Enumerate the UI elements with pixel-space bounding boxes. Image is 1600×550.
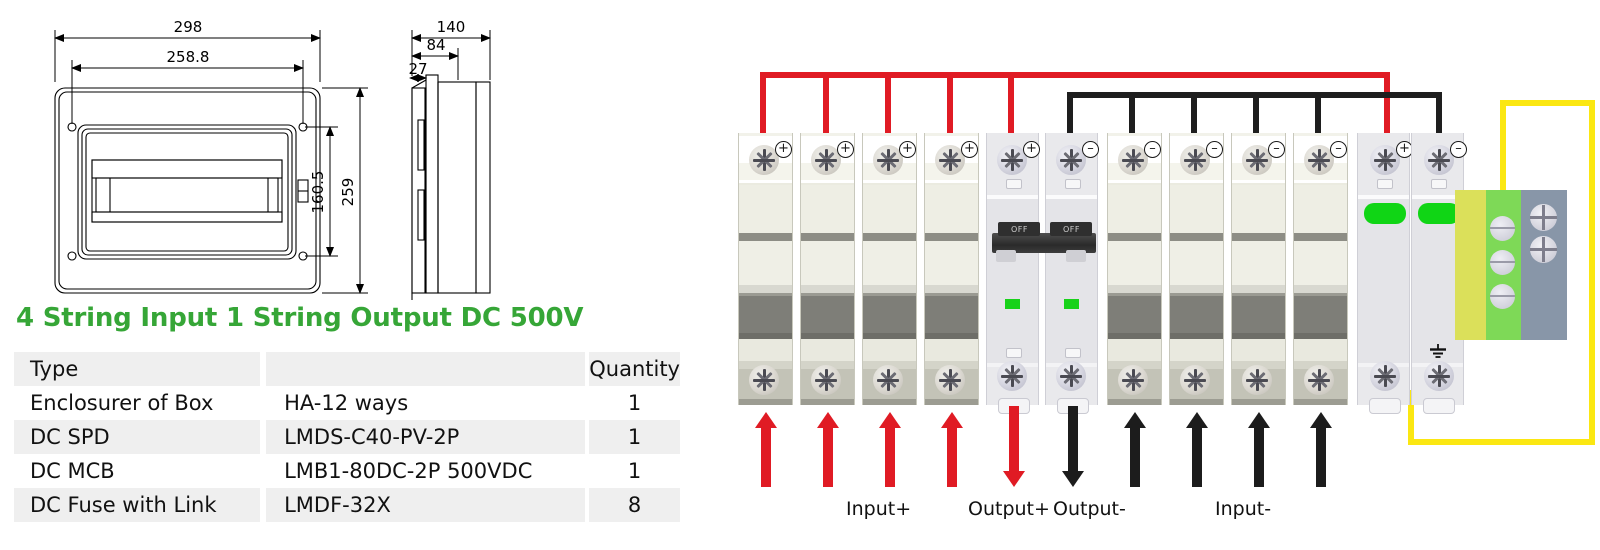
negative-drop-spd	[1436, 92, 1442, 134]
polarity-plus-icon: +	[837, 141, 854, 158]
label-output-negative: Output-	[1053, 498, 1126, 520]
positive-drop-fuse-4	[947, 72, 953, 134]
mcb-status-indicator	[1064, 299, 1079, 309]
negative-drop-fuse-6	[1191, 92, 1197, 134]
label-input-positive: Input+	[846, 498, 911, 520]
spec-heading: 4 String Input 1 String Output DC 500V	[16, 303, 583, 333]
positive-drop-mcb	[1008, 72, 1014, 134]
cell-quantity: 1	[589, 420, 680, 454]
dc-fuse-holder[interactable]: +	[738, 133, 793, 405]
din-rail-clip	[1369, 398, 1401, 414]
terminal-screw-bottom[interactable]	[1056, 361, 1086, 391]
input-negative-arrow	[1186, 412, 1208, 487]
dim-label-259: 259	[339, 178, 357, 207]
label-input-negative: Input-	[1215, 498, 1271, 520]
negative-drop-fuse-8	[1315, 92, 1321, 134]
column-header-quantity: Quantity	[589, 352, 680, 386]
terminal-screw-bottom[interactable]	[935, 365, 965, 395]
positive-drop-spd	[1384, 72, 1390, 134]
dc-combiner-wiring-diagram: + + + + + – OFF OFF	[720, 0, 1600, 550]
dc-fuse-holder[interactable]: –	[1169, 133, 1224, 405]
mcb-lever-shoulder-right	[1066, 250, 1086, 262]
input-positive-arrow	[755, 412, 777, 487]
enclosure-dimension-drawing: 298 258.8 160.5 259 140 84 27	[0, 0, 540, 300]
negative-drop-fuse-7	[1253, 92, 1259, 134]
terminal-clip-top	[1065, 179, 1081, 189]
specification-table: Type Quantity Enclosurer of Box HA-12 wa…	[14, 352, 680, 522]
earth-ground-icon	[1429, 344, 1447, 358]
table-row: DC MCB LMB1-80DC-2P 500VDC 1	[14, 454, 680, 488]
dc-fuse-holder[interactable]: –	[1293, 133, 1348, 405]
earth-terminal-slot-line-3	[1490, 295, 1515, 297]
earth-wire-bottom	[1408, 439, 1595, 445]
polarity-minus-icon: –	[1330, 141, 1347, 158]
cell-model: HA-12 ways	[266, 386, 585, 420]
neutral-terminal-screw-cross-2	[1542, 205, 1545, 230]
spd-status-window	[1364, 203, 1406, 224]
input-negative-arrow	[1124, 412, 1146, 487]
negative-drop-fuse-5	[1129, 92, 1135, 134]
positive-drop-fuse-3	[885, 72, 891, 134]
cell-model: LMDS-C40-PV-2P	[266, 420, 585, 454]
cell-quantity: 1	[589, 454, 680, 488]
mcb-off-label-left: OFF	[1011, 225, 1028, 234]
cell-quantity: 8	[589, 488, 680, 522]
earth-terminal-slot-line-2	[1490, 261, 1515, 263]
positive-drop-fuse-2	[823, 72, 829, 134]
terminal-clip-top	[1006, 179, 1022, 189]
positive-bus-horizontal	[760, 72, 1390, 78]
terminal-screw-bottom[interactable]	[811, 365, 841, 395]
earth-wire-right	[1589, 100, 1595, 445]
polarity-minus-icon: –	[1144, 141, 1161, 158]
polarity-plus-icon: +	[1023, 141, 1040, 158]
terminal-screw-bottom[interactable]	[1180, 365, 1210, 395]
terminal-clip-bottom	[1065, 348, 1081, 358]
terminal-clip-bottom	[1006, 348, 1022, 358]
cell-model: LMB1-80DC-2P 500VDC	[266, 454, 585, 488]
dim-label-84: 84	[426, 36, 445, 54]
polarity-minus-icon: –	[1206, 141, 1223, 158]
mcb-lever-shoulder-left	[996, 250, 1016, 262]
terminal-screw-bottom[interactable]	[1424, 361, 1454, 391]
polarity-plus-icon: +	[961, 141, 978, 158]
column-header-type: Type	[14, 352, 260, 386]
polarity-minus-icon: –	[1450, 141, 1467, 158]
label-output-positive: Output+	[968, 498, 1050, 520]
dc-mcb-pole-negative[interactable]: –	[1045, 133, 1098, 405]
table-row: DC SPD LMDS-C40-PV-2P 1	[14, 420, 680, 454]
column-header-model	[266, 352, 585, 386]
din-rail-clip	[1423, 398, 1455, 414]
dc-spd-pole-positive[interactable]: +	[1357, 133, 1410, 405]
polarity-minus-icon: –	[1082, 141, 1099, 158]
dim-label-160-5: 160.5	[309, 171, 327, 214]
terminal-clip-top	[1431, 179, 1447, 189]
input-negative-arrow	[1248, 412, 1270, 487]
spd-status-window	[1418, 203, 1460, 224]
dc-mcb-pole-positive[interactable]: +	[986, 133, 1039, 405]
terminal-screw-bottom[interactable]	[873, 365, 903, 395]
terminal-screw-bottom[interactable]	[1304, 365, 1334, 395]
polarity-plus-icon: +	[775, 141, 792, 158]
output-negative-arrow	[1062, 406, 1084, 487]
left-panel: 298 258.8 160.5 259 140 84 27 4 String I…	[0, 0, 720, 550]
dc-fuse-holder[interactable]: –	[1107, 133, 1162, 405]
polarity-plus-icon: +	[899, 141, 916, 158]
cell-type: Enclosurer of Box	[14, 386, 260, 420]
input-negative-arrow	[1310, 412, 1332, 487]
dim-label-140: 140	[437, 18, 466, 36]
positive-drop-fuse-1	[760, 72, 766, 134]
earth-terminal-slot-line-1	[1490, 227, 1515, 229]
cell-type: DC SPD	[14, 420, 260, 454]
terminal-screw-bottom[interactable]	[749, 365, 779, 395]
dc-fuse-holder[interactable]: +	[862, 133, 917, 405]
mcb-status-indicator	[1005, 299, 1020, 309]
table-row: DC Fuse with Link LMDF-32X 8	[14, 488, 680, 522]
table-row: Enclosurer of Box HA-12 ways 1	[14, 386, 680, 420]
cell-model: LMDF-32X	[266, 488, 585, 522]
dim-label-298: 298	[174, 18, 203, 36]
terminal-screw-bottom[interactable]	[997, 361, 1027, 391]
terminal-screw-bottom[interactable]	[1370, 361, 1400, 391]
polarity-minus-icon: –	[1268, 141, 1285, 158]
input-positive-arrow	[879, 412, 901, 487]
output-positive-arrow	[1003, 406, 1025, 487]
input-positive-arrow	[817, 412, 839, 487]
terminal-clip-top	[1377, 179, 1393, 189]
dc-fuse-holder[interactable]: –	[1231, 133, 1286, 405]
table-header-row: Type Quantity	[14, 352, 680, 386]
neutral-terminal-screw-cross-4	[1542, 237, 1545, 262]
cell-quantity: 1	[589, 386, 680, 420]
terminal-screw-bottom[interactable]	[1118, 365, 1148, 395]
dim-label-258-8: 258.8	[167, 48, 210, 66]
cell-type: DC Fuse with Link	[14, 488, 260, 522]
earth-wire-top-h	[1500, 100, 1595, 106]
cell-type: DC MCB	[14, 454, 260, 488]
negative-drop-mcb	[1067, 92, 1073, 134]
dc-fuse-holder[interactable]: +	[924, 133, 979, 405]
mcb-off-label-right: OFF	[1063, 225, 1080, 234]
dim-label-27: 27	[408, 60, 427, 78]
dc-fuse-holder[interactable]: +	[800, 133, 855, 405]
input-positive-arrow	[941, 412, 963, 487]
terminal-screw-bottom[interactable]	[1242, 365, 1272, 395]
